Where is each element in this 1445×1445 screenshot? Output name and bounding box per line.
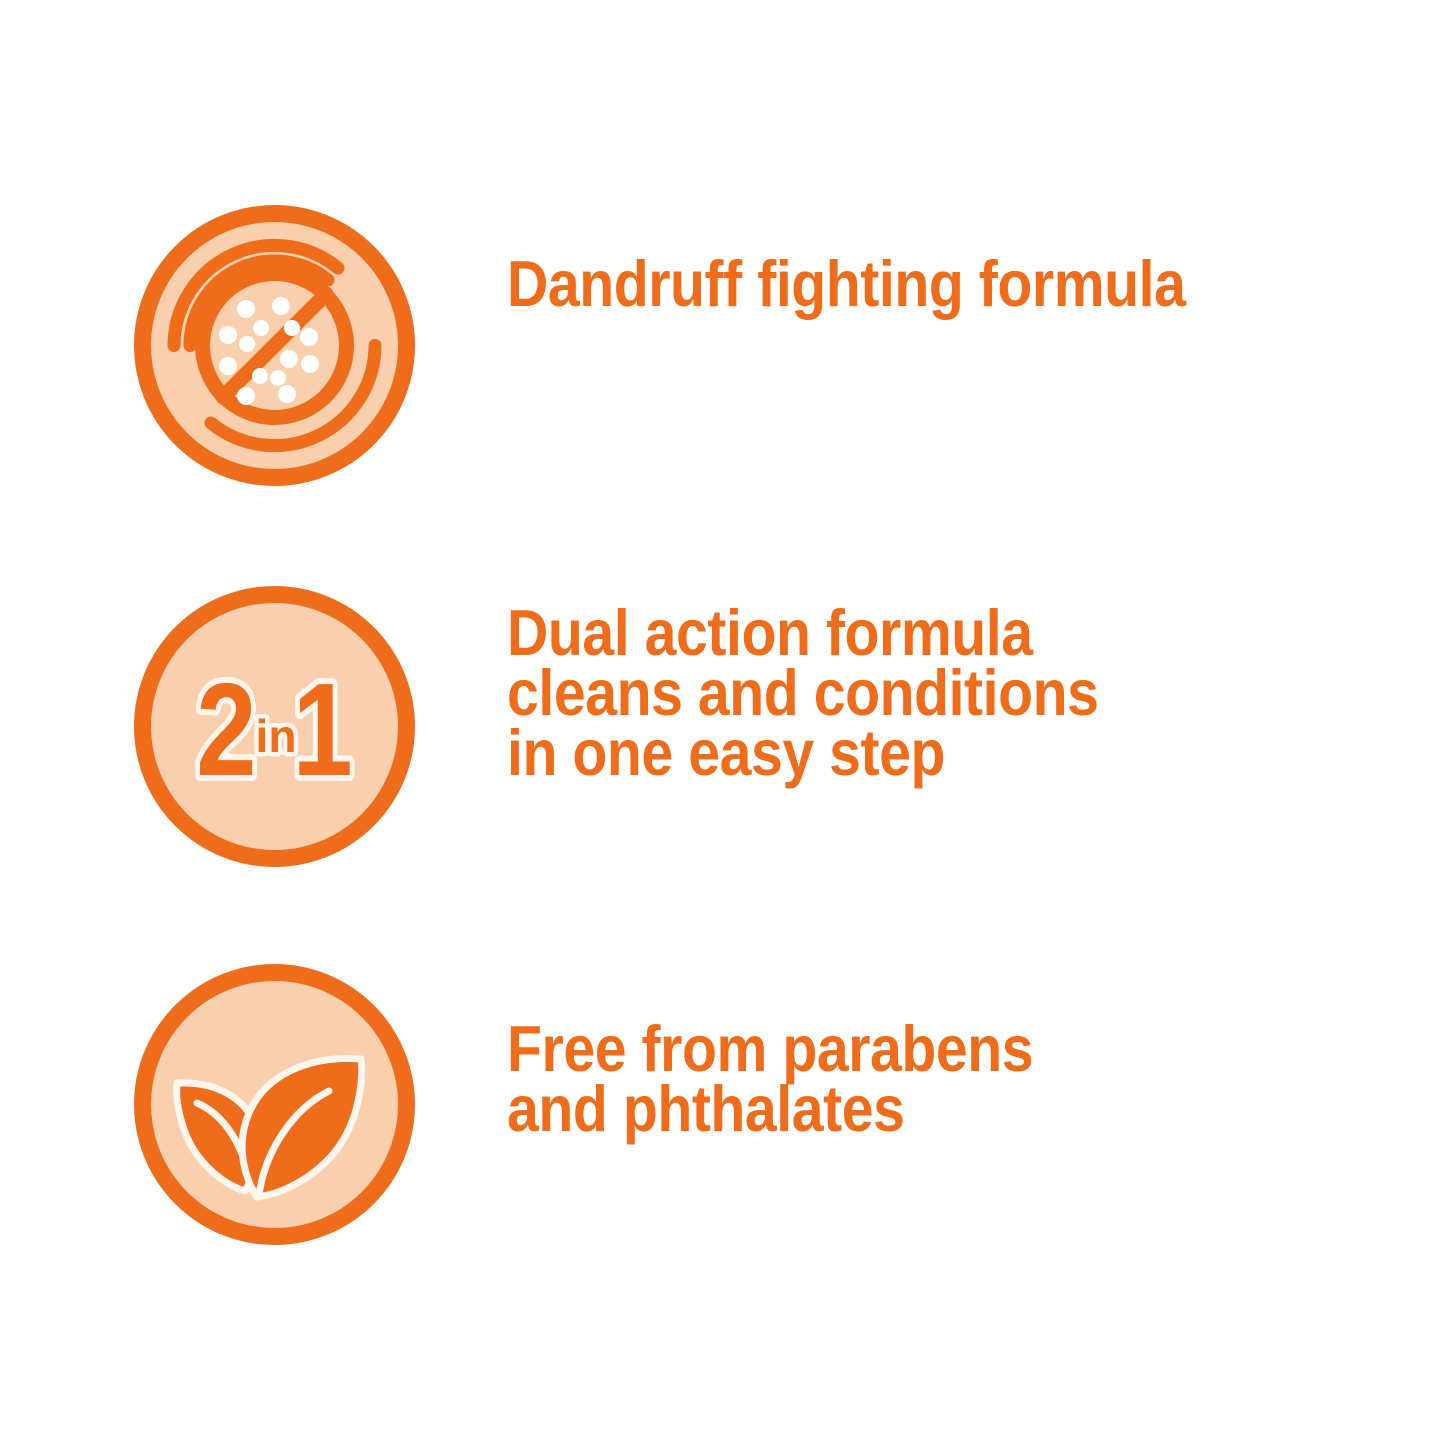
two-in-one-icon: 2-1 2-1 in in (133, 585, 416, 868)
no-dandruff-icon (133, 204, 416, 487)
feature-row: 2-1 2-1 in in Dual action formula cleans… (0, 585, 1445, 868)
leaves-icon (133, 963, 416, 1246)
feature-row: Dandruff fighting formula (0, 204, 1445, 487)
feature-text: Dual action formula cleans and condition… (507, 603, 1098, 782)
feature-text: Free from parabens and phthalates (507, 1019, 1033, 1139)
feature-benefits-panel: Dandruff fighting formula 2-1 2-1 in in … (0, 0, 1445, 1445)
feature-text: Dandruff fighting formula (507, 254, 1185, 314)
feature-row: Free from parabens and phthalates (0, 963, 1445, 1248)
svg-text:in: in (256, 710, 297, 762)
